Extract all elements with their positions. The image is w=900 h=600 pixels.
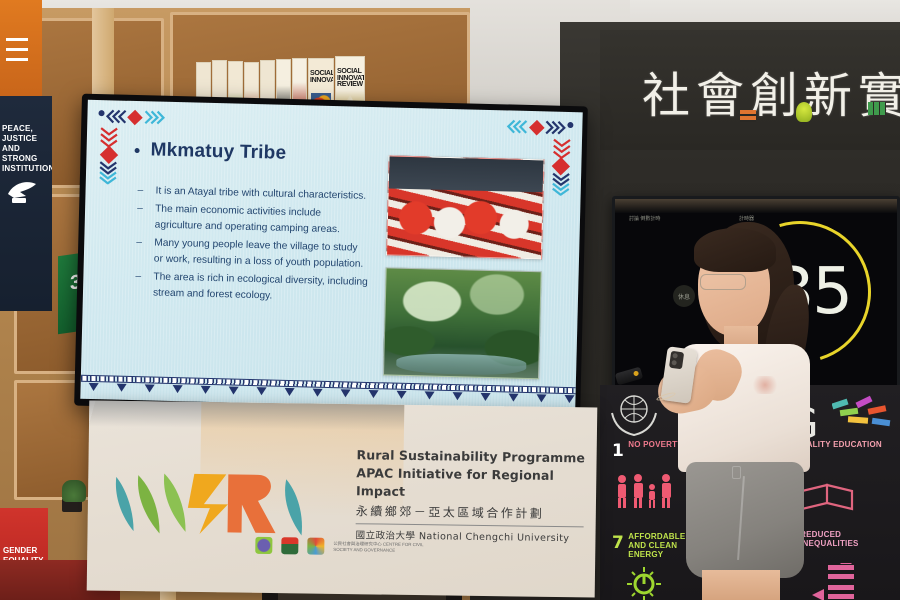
sponsor-logo-2 bbox=[281, 537, 298, 554]
presenter-shorts bbox=[686, 462, 804, 578]
bullet-text: Many young people leave the village to s… bbox=[154, 237, 364, 270]
phone-camera-icon bbox=[669, 351, 684, 370]
nccu-programme-logo bbox=[107, 459, 308, 538]
room-scene: Stanford Stanford Stanford Stanford Stan… bbox=[0, 0, 900, 600]
magazine-feature-title: SOCIAL INNOVATION bbox=[310, 71, 332, 84]
presentation-tv[interactable]: Mkmatuy Tribe – It is an Atayal tribe wi… bbox=[74, 94, 588, 419]
shorts-seam bbox=[737, 476, 744, 560]
shorts-belt-loop bbox=[732, 466, 741, 479]
tv-bezel: Mkmatuy Tribe – It is an Atayal tribe wi… bbox=[74, 94, 588, 419]
poster-sdg16-label: PEACE, JUSTICE AND STRONG INSTITUTIONS bbox=[2, 124, 52, 174]
banner-chinese-title: 永續鄉郊－亞太區域合作計劃 bbox=[356, 503, 588, 523]
magazine-feature-title: SOCIAL INNOVATION REVIEW bbox=[337, 69, 363, 89]
shelf-plant bbox=[62, 480, 86, 502]
project-banner: Rural Sustainability Programme APAC Init… bbox=[87, 400, 598, 597]
presenter bbox=[650, 218, 830, 600]
bullet-dash: – bbox=[137, 201, 143, 218]
lightbulb-icon bbox=[796, 102, 812, 122]
sponsor-logo-3 bbox=[307, 538, 324, 555]
chalk-sign-text: 社會創新實驗 bbox=[642, 56, 900, 126]
presenter-glasses bbox=[700, 274, 746, 290]
bullet-dash: – bbox=[137, 183, 143, 200]
banner-sponsor-row: 公民社會與治理研究中心 CENTRE FOR CIVIL SOCIETY AND… bbox=[255, 537, 425, 556]
title-bullet-dot bbox=[135, 148, 140, 153]
banner-line2: APAC Initiative for Regional Impact bbox=[356, 464, 588, 503]
dove-gavel-icon bbox=[2, 174, 42, 208]
forest-stream-photo bbox=[383, 267, 542, 379]
sdg-goal-7-number: 7 bbox=[612, 533, 624, 553]
sdg-color-wheel-icon bbox=[832, 395, 894, 441]
bullet-text: The main economic activities include agr… bbox=[155, 203, 340, 235]
shirt-logo bbox=[750, 376, 780, 394]
timer-display-topbar bbox=[615, 199, 897, 213]
banner-shadow bbox=[89, 400, 404, 430]
bullet-text: It is an Atayal tribe with cultural char… bbox=[155, 186, 366, 202]
photo-stream bbox=[396, 353, 526, 376]
bullet-item: – Many young people leave the village to… bbox=[154, 235, 370, 273]
bullet-dash: – bbox=[136, 235, 142, 252]
chalk-sign-board: 社會創新實驗 bbox=[600, 30, 900, 150]
poster-orange bbox=[0, 0, 42, 100]
slide-title: Mkmatuy Tribe bbox=[150, 139, 286, 164]
presenter-legs bbox=[702, 570, 780, 600]
sdg-goal-1-number: 1 bbox=[612, 441, 624, 461]
slide-bullet-list: – It is an Atayal tribe with cultural ch… bbox=[153, 184, 371, 309]
banner-text-block: Rural Sustainability Programme APAC Init… bbox=[355, 446, 588, 545]
sponsor-center-text: 公民社會與治理研究中心 CENTRE FOR CIVIL SOCIETY AND… bbox=[333, 541, 425, 553]
bullet-dash: – bbox=[135, 269, 141, 286]
bullet-item: – The area is rich in ecological diversi… bbox=[153, 269, 369, 307]
bullet-item: – The main economic activities include a… bbox=[154, 201, 370, 239]
sponsor-logo-1 bbox=[255, 537, 272, 554]
slide: Mkmatuy Tribe – It is an Atayal tribe wi… bbox=[80, 100, 582, 411]
presenter-fringe bbox=[694, 228, 776, 272]
bullet-text: The area is rich in ecological diversity… bbox=[153, 271, 368, 302]
photo-background-crowd bbox=[389, 156, 544, 192]
chalk-green-accent bbox=[868, 102, 886, 115]
atayal-dancers-photo bbox=[386, 155, 544, 259]
chalk-orange-accent bbox=[740, 110, 756, 122]
poster-sdg16: PEACE, JUSTICE AND STRONG INSTITUTIONS bbox=[0, 96, 52, 311]
slide-bottom-border bbox=[81, 375, 576, 404]
